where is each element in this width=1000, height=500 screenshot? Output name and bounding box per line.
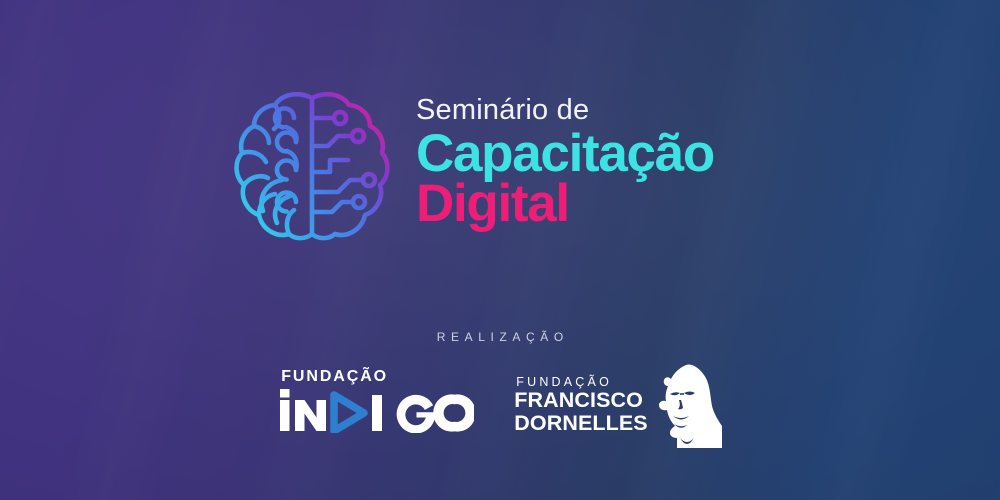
event-kicker: Seminário de bbox=[416, 95, 714, 126]
footer-credits: REALIZAÇÃO FUNDAÇÃO bbox=[0, 330, 1000, 448]
event-title-line-2: Digital bbox=[416, 178, 714, 230]
event-wordmark: Seminário de Capacitação Digital bbox=[416, 95, 714, 235]
brain-circuit-icon bbox=[232, 84, 392, 246]
logo-fundacao-indigo[interactable]: FUNDAÇÃO bbox=[278, 368, 474, 433]
dornelles-line-1: FRANCISCO bbox=[514, 389, 648, 412]
indigo-kicker-label: FUNDAÇÃO bbox=[281, 368, 474, 386]
indigo-wordmark bbox=[278, 387, 474, 433]
play-triangle-icon bbox=[334, 395, 364, 431]
sponsor-logo-row: FUNDAÇÃO bbox=[278, 368, 722, 448]
hero-lockup: Seminário de Capacitação Digital bbox=[232, 84, 714, 246]
event-title-line-1: Capacitação bbox=[416, 128, 714, 180]
dornelles-kicker-label: FUNDAÇÃO bbox=[516, 375, 648, 389]
realizacao-label: REALIZAÇÃO bbox=[431, 330, 569, 344]
dornelles-text-block: FUNDAÇÃO FRANCISCO DORNELLES bbox=[514, 368, 648, 435]
dornelles-line-2: DORNELLES bbox=[514, 412, 648, 435]
logo-fundacao-francisco-dornelles[interactable]: FUNDAÇÃO FRANCISCO DORNELLES bbox=[514, 368, 722, 448]
man-face-portrait-icon bbox=[646, 364, 722, 448]
event-banner: Seminário de Capacitação Digital REALIZA… bbox=[0, 0, 1000, 500]
